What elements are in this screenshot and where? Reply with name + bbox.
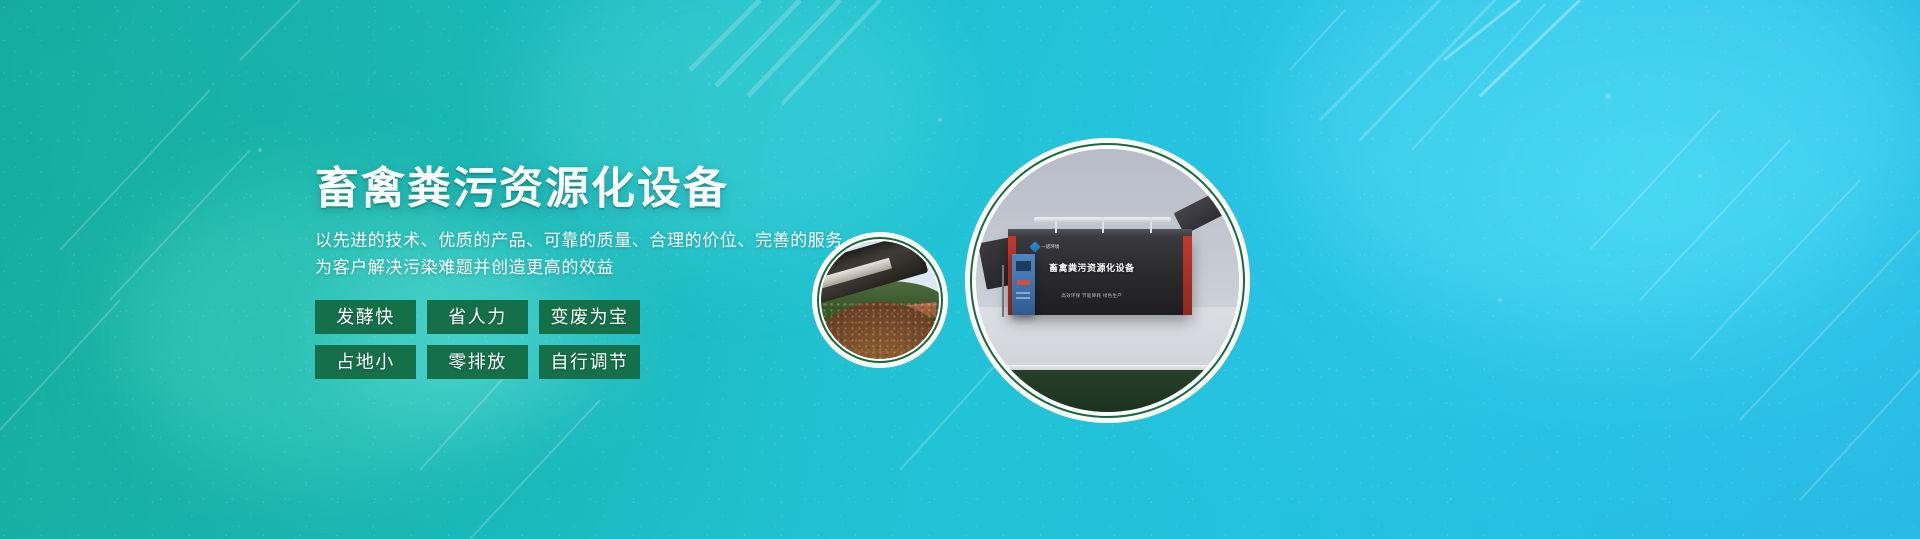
render-machine-label: 畜禽粪污资源化设备 <box>1018 254 1165 280</box>
render-machine-sublabel: 高效环保 节能降耗 绿色生产 <box>1018 288 1165 304</box>
render-cabinet-vent <box>1016 292 1030 294</box>
background-texture <box>0 0 1920 539</box>
feature-tag-waste-to-treasure[interactable]: 变废为宝 <box>539 300 640 334</box>
render-cabinet-button <box>1017 280 1030 285</box>
background-glow <box>1280 0 1920 330</box>
render-pipe-riser <box>1055 217 1057 233</box>
photo-compost-pile <box>821 302 939 359</box>
render-conveyor-leg <box>1002 265 1004 318</box>
banner-copy: 畜禽粪污资源化设备 以先进的技术、优质的产品、可靠的质量、合理的价位、完善的服务… <box>315 165 875 379</box>
render-grass <box>976 370 1239 412</box>
render-brand-badge: 一诺环境 <box>1031 240 1073 254</box>
equipment-render-circle: 一诺环境 畜禽粪污资源化设备 高效环保 节能降耗 绿色生产 <box>965 138 1250 423</box>
feature-tag-labor-saving[interactable]: 省人力 <box>427 300 528 334</box>
render-control-cabinet <box>1012 254 1036 314</box>
diagonal-line-decoration <box>0 0 1920 539</box>
render-cabinet-vent <box>1016 297 1030 299</box>
feature-tag-small-footprint[interactable]: 占地小 <box>315 345 416 379</box>
render-brand-text: 一诺环境 <box>1041 244 1059 250</box>
render-pipe-riser <box>1102 217 1104 233</box>
render-pipe-riser <box>1150 217 1152 233</box>
subtitle-line-2: 为客户解决污染难题并创造更高的效益 <box>315 254 875 282</box>
feature-tag-zero-emission[interactable]: 零排放 <box>427 345 528 379</box>
render-container-endcap-right <box>1183 236 1192 315</box>
feature-tag-fermentation-fast[interactable]: 发酵快 <box>315 300 416 334</box>
banner-subtitle: 以先进的技术、优质的产品、可靠的质量、合理的价位、完善的服务 为客户解决污染难题… <box>315 227 875 282</box>
photo-compost-texture <box>821 302 939 359</box>
compost-photo-circle <box>812 232 948 368</box>
feature-tag-list: 发酵快 省人力 变废为宝 占地小 零排放 自行调节 <box>315 300 660 379</box>
diamond-logo-icon <box>1030 241 1041 252</box>
promo-banner: 畜禽粪污资源化设备 以先进的技术、优质的产品、可靠的质量、合理的价位、完善的服务… <box>0 0 1920 539</box>
feature-tag-self-adjusting[interactable]: 自行调节 <box>539 345 640 379</box>
subtitle-line-1: 以先进的技术、优质的产品、可靠的质量、合理的价位、完善的服务 <box>315 227 875 255</box>
equipment-3d-render: 一诺环境 畜禽粪污资源化设备 高效环保 节能降耗 绿色生产 <box>976 149 1239 412</box>
compost-pile-photo <box>821 241 939 359</box>
page-title: 畜禽粪污资源化设备 <box>315 165 875 213</box>
render-cabinet-screen <box>1016 261 1031 271</box>
